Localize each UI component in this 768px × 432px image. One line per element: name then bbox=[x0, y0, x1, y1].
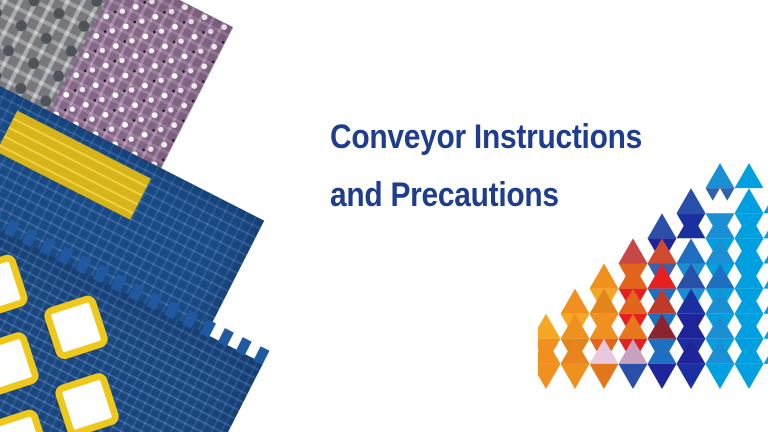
mosaic-triangle bbox=[619, 364, 648, 389]
belt-tooth bbox=[235, 337, 251, 356]
mosaic-triangle bbox=[561, 364, 590, 389]
mosaic-triangle bbox=[735, 188, 764, 213]
belt-tooth bbox=[4, 219, 20, 238]
mosaic-triangle bbox=[764, 289, 768, 314]
mosaic-triangle bbox=[590, 364, 619, 389]
belt-roller bbox=[0, 407, 52, 432]
belt-tooth bbox=[111, 274, 127, 293]
mosaic-triangle bbox=[538, 314, 561, 339]
belt-tooth bbox=[218, 328, 234, 347]
mosaic-triangle bbox=[590, 263, 619, 288]
mosaic-triangle bbox=[648, 364, 677, 389]
belt-roller bbox=[0, 330, 41, 398]
title-slide: Conveyor Instructions and Precautions bbox=[0, 0, 768, 432]
mosaic-triangle bbox=[764, 339, 768, 364]
belt-tooth bbox=[93, 264, 109, 283]
mosaic-triangle bbox=[764, 238, 768, 263]
mosaic-triangle bbox=[764, 263, 768, 288]
mosaic-triangle bbox=[764, 188, 768, 213]
mosaic-triangle bbox=[677, 364, 706, 389]
mosaic-triangle bbox=[561, 289, 590, 314]
mosaic-triangle bbox=[706, 163, 735, 188]
belt-roller bbox=[0, 252, 30, 320]
belt-tooth bbox=[182, 310, 198, 329]
mosaic-triangle bbox=[735, 163, 764, 188]
belt-roller bbox=[53, 371, 121, 432]
mosaic-triangle bbox=[619, 238, 648, 263]
triangle-pyramid-graphic bbox=[538, 157, 768, 432]
mosaic-triangle bbox=[648, 213, 677, 238]
mosaic-triangle bbox=[735, 364, 764, 389]
belt-tooth bbox=[75, 255, 91, 274]
triangle-mosaic-svg bbox=[538, 157, 768, 432]
mosaic-triangle bbox=[538, 364, 561, 389]
belt-tooth bbox=[200, 319, 216, 338]
belt-roller bbox=[42, 293, 110, 361]
conveyor-belt-photo bbox=[0, 0, 300, 432]
belt-tooth bbox=[253, 346, 269, 365]
mosaic-triangle bbox=[677, 188, 706, 213]
belt-tooth bbox=[57, 246, 73, 265]
belt-tooth bbox=[129, 283, 145, 302]
belt-tooth bbox=[39, 237, 55, 256]
belt-tooth bbox=[164, 301, 180, 320]
mosaic-triangle bbox=[764, 314, 768, 339]
mosaic-triangle bbox=[764, 213, 768, 238]
belt-tooth bbox=[22, 228, 38, 247]
mosaic-triangle bbox=[706, 364, 735, 389]
belt-tooth bbox=[146, 292, 162, 311]
